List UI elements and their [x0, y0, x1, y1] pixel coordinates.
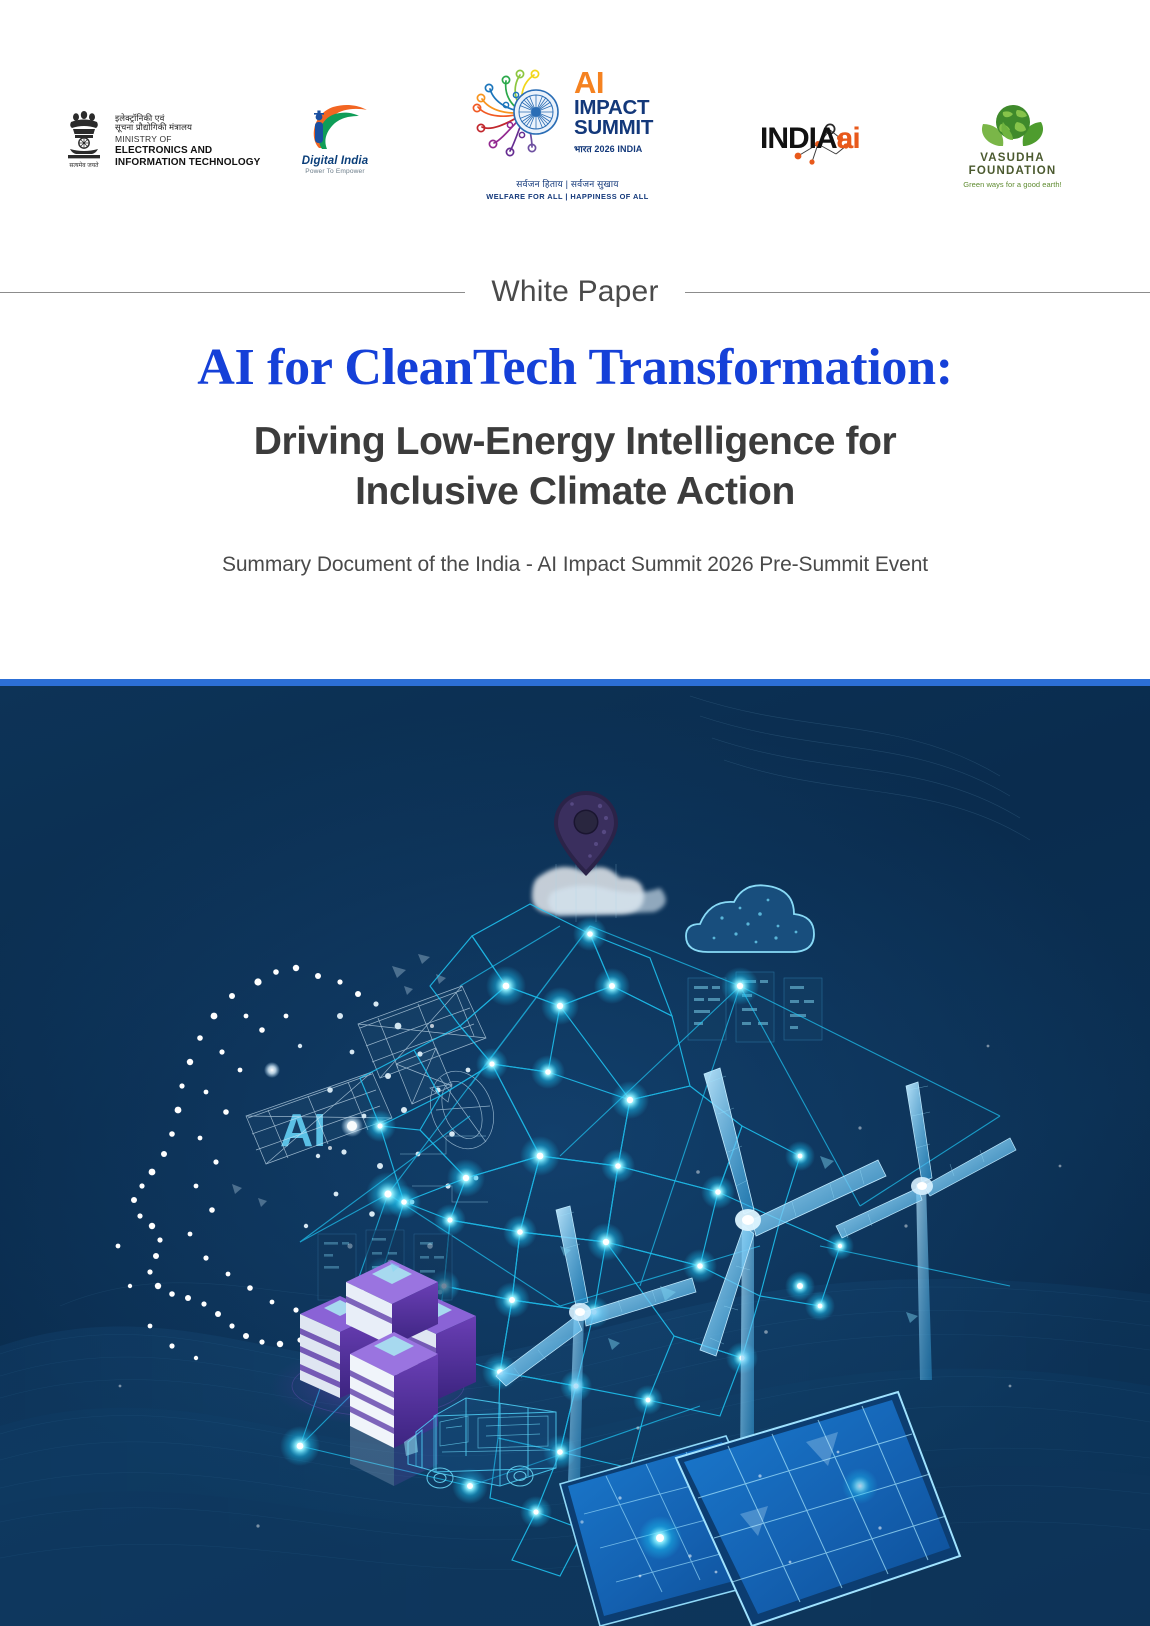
cloud-datacenter-icon	[686, 885, 822, 1042]
hero-artwork: AI	[0, 686, 1150, 1626]
meity-line-3: INFORMATION TECHNOLOGY	[115, 157, 260, 169]
summit-tagline-hindi: सर्वजन हिताय | सर्वजन सुखाय	[460, 177, 675, 190]
digital-india-tagline: Power To Empower	[296, 168, 374, 175]
logo-ai-impact-summit-2026: AI IMPACT SUMMIT भारत 2026 INDIA सर्वजन …	[460, 55, 675, 201]
summit-wordmark: AI IMPACT SUMMIT भारत 2026 INDIA	[574, 65, 653, 155]
indiaai-ai-text: ai	[837, 122, 860, 155]
location-pin-and-cloud	[532, 791, 666, 922]
background-swirl	[690, 696, 1030, 840]
meity-line-1: MINISTRY OF	[115, 135, 260, 145]
summit-tagline: सर्वजन हिताय | सर्वजन सुखाय WELFARE FOR …	[460, 177, 675, 201]
vasudha-globe-leaf-icon	[969, 100, 1057, 152]
summit-tagline-english: WELFARE FOR ALL | HAPPINESS OF ALL	[460, 192, 675, 201]
title-block: AI for CleanTech Transformation: Driving…	[0, 340, 1150, 577]
accent-bar	[0, 679, 1150, 686]
vasudha-name-line-2: FOUNDATION	[950, 165, 1075, 178]
document-summary-note: Summary Document of the India - AI Impac…	[0, 553, 1150, 577]
page-subtitle-line-1: Driving Low-Energy Intelligence for	[0, 417, 1150, 467]
ashoka-chakra-icon	[514, 90, 558, 134]
page-subtitle: Driving Low-Energy Intelligence for Incl…	[0, 417, 1150, 517]
indiaai-india-text: INDIA	[760, 122, 837, 155]
document-type-band: White Paper	[0, 268, 1150, 316]
indiaai-wordmark: INDIAai	[760, 122, 860, 156]
digital-india-icon	[299, 100, 371, 154]
summit-neural-chakra-icon	[460, 55, 570, 165]
logo-ministry-of-electronics-and-it: सत्यमेव जयते इलेक्ट्रॉनिकी एवं सूचना प्र…	[62, 105, 260, 177]
meity-hindi-line-2: सूचना प्रौद्योगिकी मंत्रालय	[115, 123, 260, 133]
logo-vasudha-foundation: VASUDHA FOUNDATION Green ways for a good…	[950, 100, 1075, 189]
vasudha-tagline: Green ways for a good earth!	[950, 180, 1075, 189]
logo-indiaai: INDIAai	[760, 120, 880, 164]
partner-logo-bar: सत्यमेव जयते इलेक्ट्रॉनिकी एवं सूचना प्र…	[0, 0, 1150, 250]
document-type-label: White Paper	[465, 275, 684, 309]
emblem-caption: सत्यमेव जयते	[69, 161, 99, 169]
summit-year-text: भारत 2026 INDIA	[574, 142, 653, 155]
summit-impact-text: IMPACT	[574, 98, 653, 119]
meity-wordmark: इलेक्ट्रॉनिकी एवं सूचना प्रौद्योगिकी मंत…	[115, 114, 260, 169]
divider-right	[685, 292, 1150, 293]
digital-india-name: Digital India	[296, 155, 374, 167]
summit-summit-text: SUMMIT	[574, 118, 653, 139]
white-paper-cover-page: सत्यमेव जयते इलेक्ट्रॉनिकी एवं सूचना प्र…	[0, 0, 1150, 1626]
vasudha-name-line-1: VASUDHA	[950, 152, 1075, 165]
meity-line-2: ELECTRONICS AND	[115, 145, 260, 157]
map-pin-icon	[554, 791, 618, 876]
summit-ai-text: AI	[574, 69, 653, 98]
logo-digital-india: Digital India Power To Empower	[296, 100, 374, 175]
page-title: AI for CleanTech Transformation:	[0, 340, 1150, 395]
hero-illustration: AI	[0, 686, 1150, 1626]
page-subtitle-line-2: Inclusive Climate Action	[0, 467, 1150, 517]
divider-left	[0, 292, 465, 293]
state-emblem-of-india-icon: सत्यमेव जयते	[62, 105, 106, 177]
